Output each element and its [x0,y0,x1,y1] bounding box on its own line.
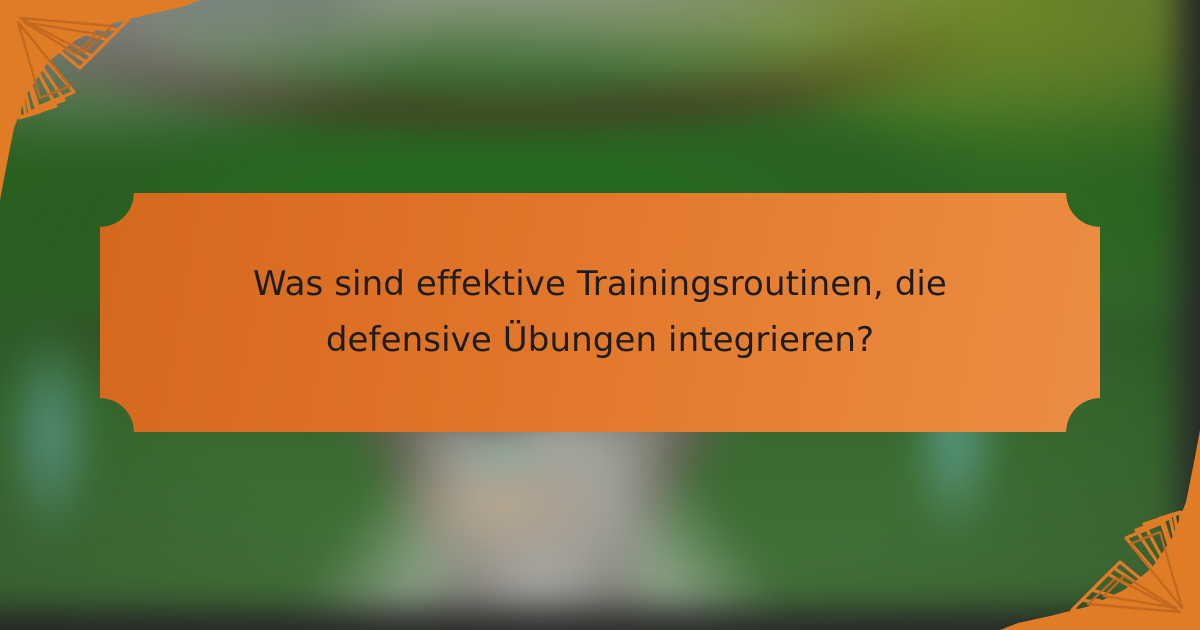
quote-card: Was sind effektive Trainingsroutinen, di… [100,193,1100,432]
quote-text: Was sind effektive Trainingsroutinen, di… [160,257,1040,367]
quote-line-2: defensive Übungen integrieren? [160,313,1040,368]
card-notch-top-left [100,193,134,227]
card-notch-bottom-left [100,398,134,432]
card-notch-top-right [1066,193,1100,227]
card-notch-bottom-right [1066,398,1100,432]
quote-card-canvas: Was sind effektive Trainingsroutinen, di… [0,0,1200,630]
quote-line-1: Was sind effektive Trainingsroutinen, di… [160,257,1040,312]
